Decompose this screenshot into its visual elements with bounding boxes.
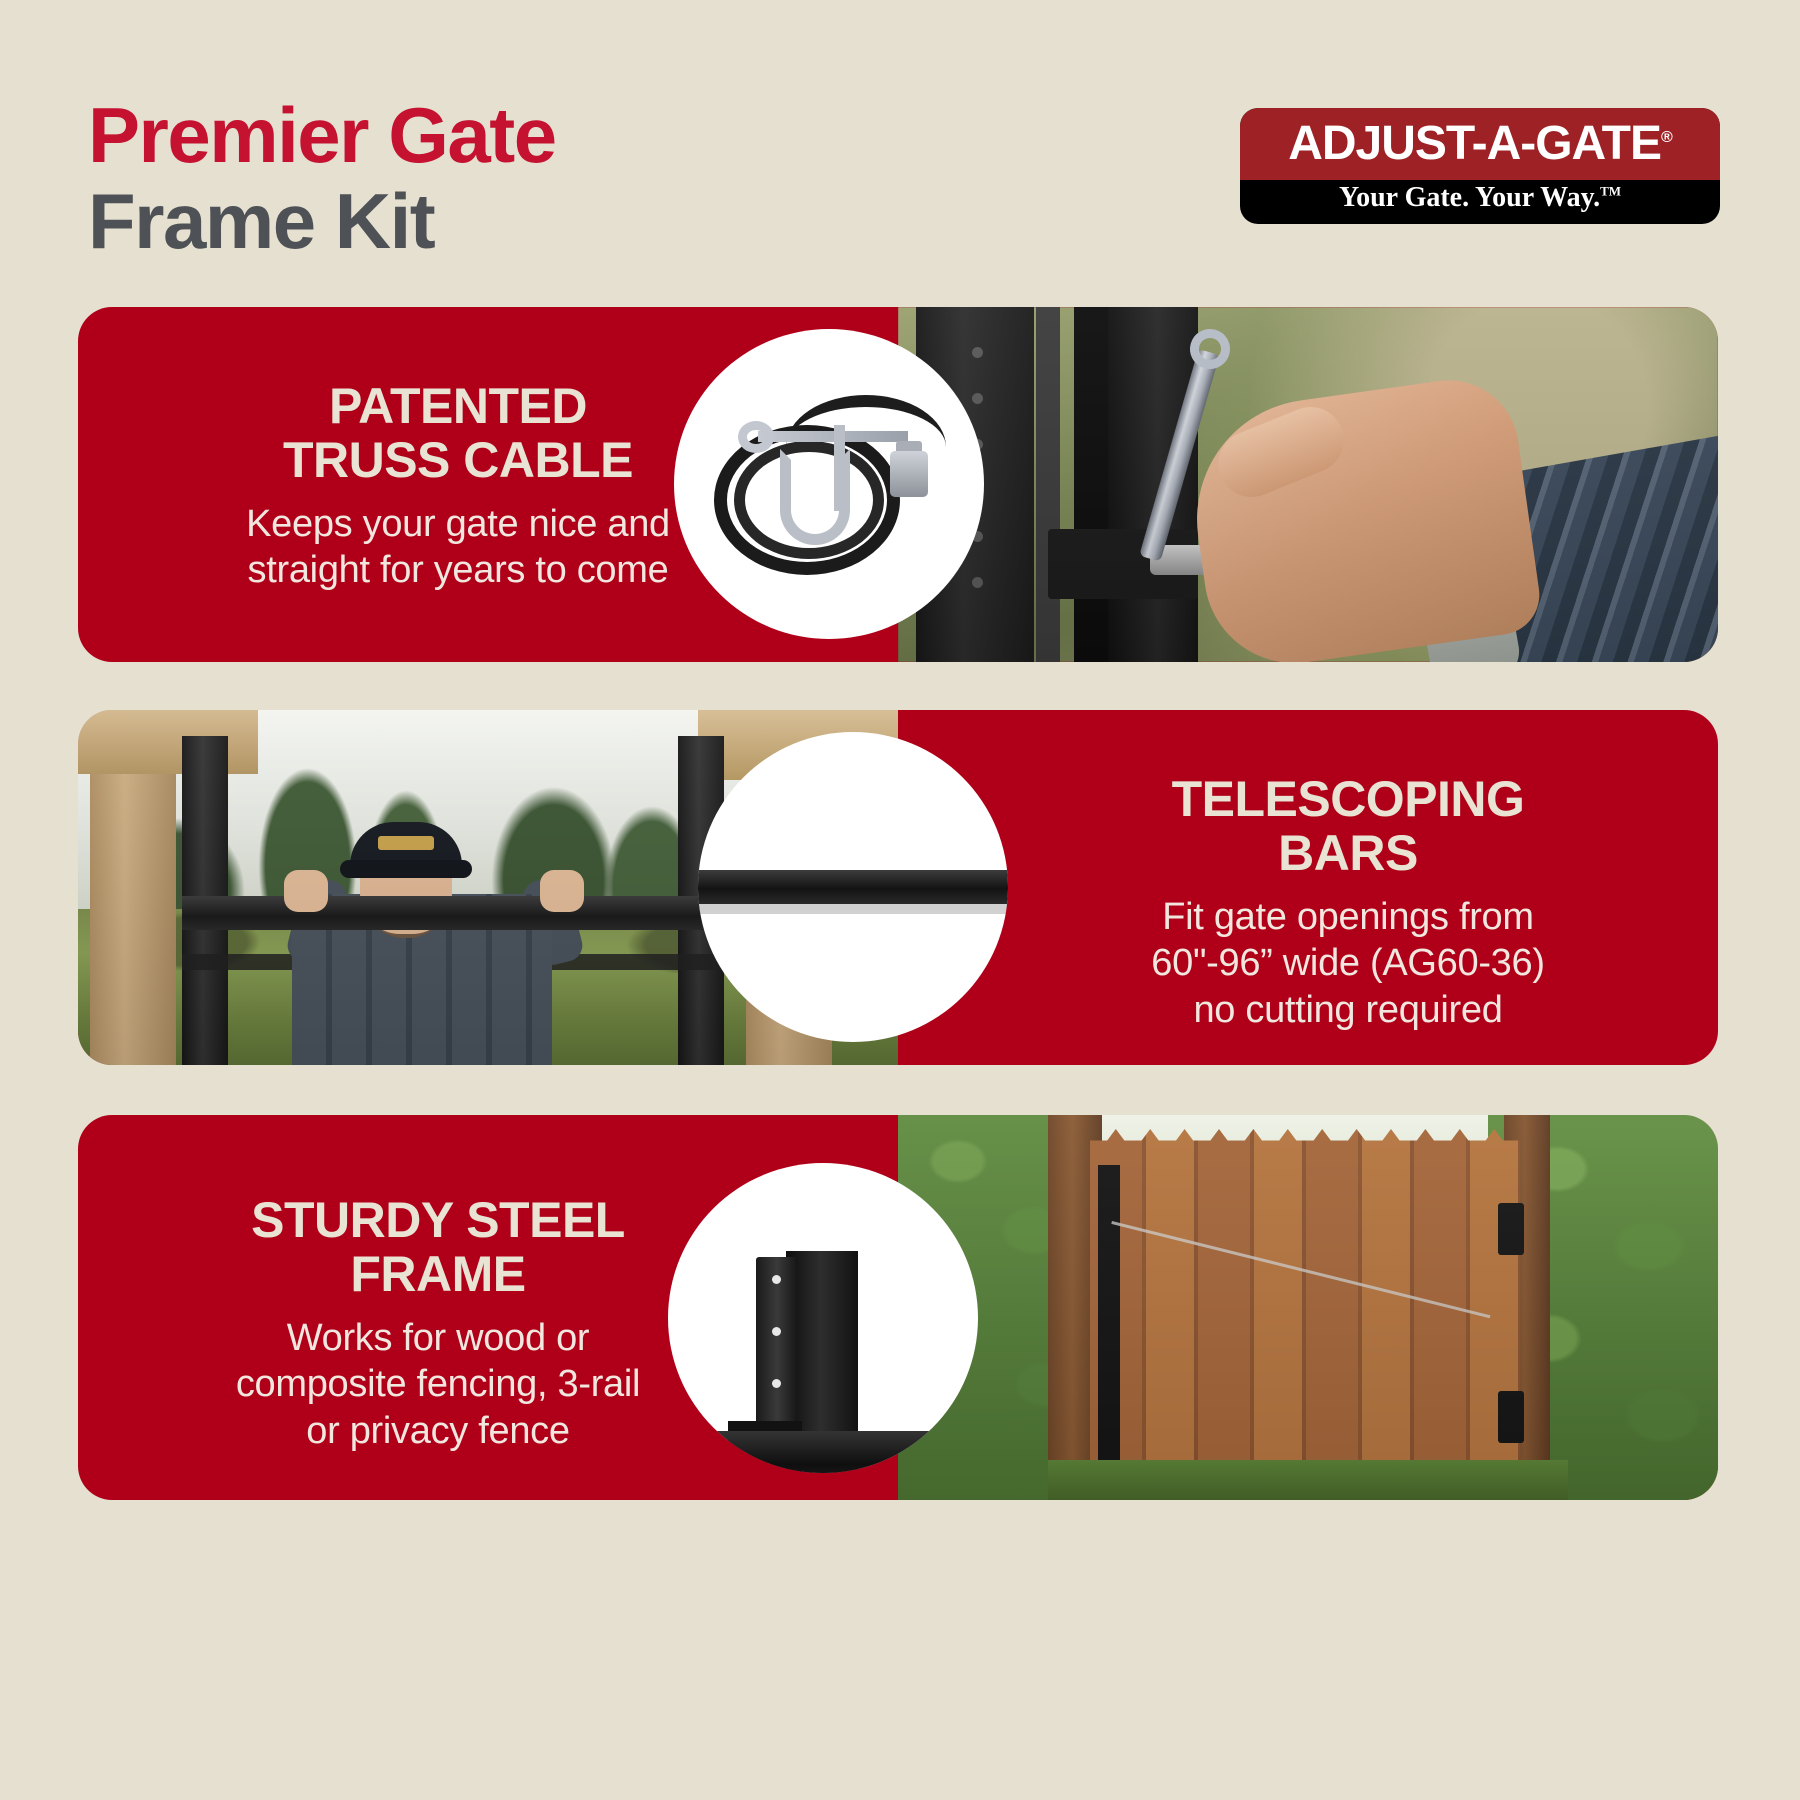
post-hole-icon	[972, 577, 983, 588]
page-title: Premier Gate Frame Kit	[88, 96, 556, 260]
telescoping-bar-shadow	[698, 904, 1008, 914]
panel-2-body-line-2: 60"-96” wide (AG60-36)	[1018, 940, 1678, 986]
panel-1-body-line-2: straight for years to come	[138, 547, 778, 593]
gate-post-middle	[1036, 307, 1060, 662]
inset-circle-truss-cable	[674, 329, 984, 639]
gate-post-channel	[1074, 307, 1108, 662]
cable-eye-icon	[738, 421, 774, 453]
feature-panel-patented-truss-cable: PATENTED TRUSS CABLE Keeps your gate nic…	[78, 307, 1718, 662]
telescoping-bar	[182, 896, 724, 930]
post-hole-icon	[972, 347, 983, 358]
logo-tagline-text: Your Gate. Your Way.	[1339, 182, 1600, 213]
bracket-mounting-plate	[756, 1257, 798, 1437]
photo-grass-strip	[1048, 1460, 1568, 1500]
panel-1-heading-line-1: PATENTED	[138, 379, 778, 433]
gate-hinge-bottom	[1498, 1391, 1524, 1443]
cap-logo-icon	[378, 836, 434, 850]
panel-3-heading-line-2: FRAME	[118, 1247, 758, 1301]
feature-panel-sturdy-steel-frame: STURDY STEEL FRAME Works for wood or com…	[78, 1115, 1718, 1500]
telescoping-bar-closeup	[698, 870, 1008, 904]
logo-wordmark-text: ADJUST-A-GATE	[1288, 117, 1661, 170]
registered-trademark-icon: ®	[1661, 129, 1672, 146]
inset-circle-steel-bracket	[668, 1163, 978, 1473]
panel-2-heading-line-1: TELESCOPING	[1018, 772, 1678, 826]
logo-tagline: Your Gate. Your Way.TM	[1240, 182, 1720, 214]
panel-2-text-block: TELESCOPING BARS Fit gate openings from …	[1018, 772, 1678, 1033]
bracket-hole-icon	[772, 1275, 781, 1284]
adjust-a-gate-logo: ADJUST-A-GATE® Your Gate. Your Way.TM	[1240, 108, 1720, 224]
page-header: Premier Gate Frame Kit ADJUST-A-GATE® Yo…	[0, 0, 1800, 300]
wood-header-left	[78, 710, 258, 774]
trademark-icon: TM	[1600, 184, 1621, 199]
panel-3-heading: STURDY STEEL FRAME	[118, 1193, 758, 1301]
photo-truss-cable-installation	[898, 307, 1718, 662]
panel-3-body-line-3: or privacy fence	[118, 1408, 758, 1454]
feature-panel-telescoping-bars: TELESCOPING BARS Fit gate openings from …	[78, 710, 1718, 1065]
title-line-one: Premier Gate	[88, 96, 556, 174]
gate-post-right	[1108, 307, 1198, 662]
installer-hand-right	[540, 870, 584, 912]
panel-2-heading: TELESCOPING BARS	[1018, 772, 1678, 880]
panel-3-heading-line-1: STURDY STEEL	[118, 1193, 758, 1247]
post-hole-icon	[972, 393, 983, 404]
inset-circle-telescoping-bar	[698, 732, 1008, 1042]
panel-2-body: Fit gate openings from 60"-96” wide (AG6…	[1018, 894, 1678, 1033]
panel-3-body-line-2: composite fencing, 3-rail	[118, 1361, 758, 1407]
title-line-two: Frame Kit	[88, 182, 556, 260]
panel-3-body-line-1: Works for wood or	[118, 1315, 758, 1361]
bracket-hole-icon	[772, 1327, 781, 1336]
photo-finished-wood-gate	[898, 1115, 1718, 1500]
bracket-hole-icon	[772, 1379, 781, 1388]
cable-clamp	[890, 451, 928, 497]
panel-3-body: Works for wood or composite fencing, 3-r…	[118, 1315, 758, 1454]
installer-hand-left	[284, 870, 328, 912]
cable-rod	[758, 431, 908, 442]
cable-hook-icon	[780, 449, 850, 545]
panel-2-body-line-3: no cutting required	[1018, 987, 1678, 1033]
panel-3-text-block: STURDY STEEL FRAME Works for wood or com…	[118, 1193, 758, 1454]
cap-brim	[340, 860, 472, 878]
panel-2-body-line-1: Fit gate openings from	[1018, 894, 1678, 940]
bracket-horizontal-bar	[668, 1431, 978, 1473]
gate-hinge-top	[1498, 1203, 1524, 1255]
logo-wordmark: ADJUST-A-GATE®	[1240, 116, 1720, 171]
panel-2-heading-line-2: BARS	[1018, 826, 1678, 880]
